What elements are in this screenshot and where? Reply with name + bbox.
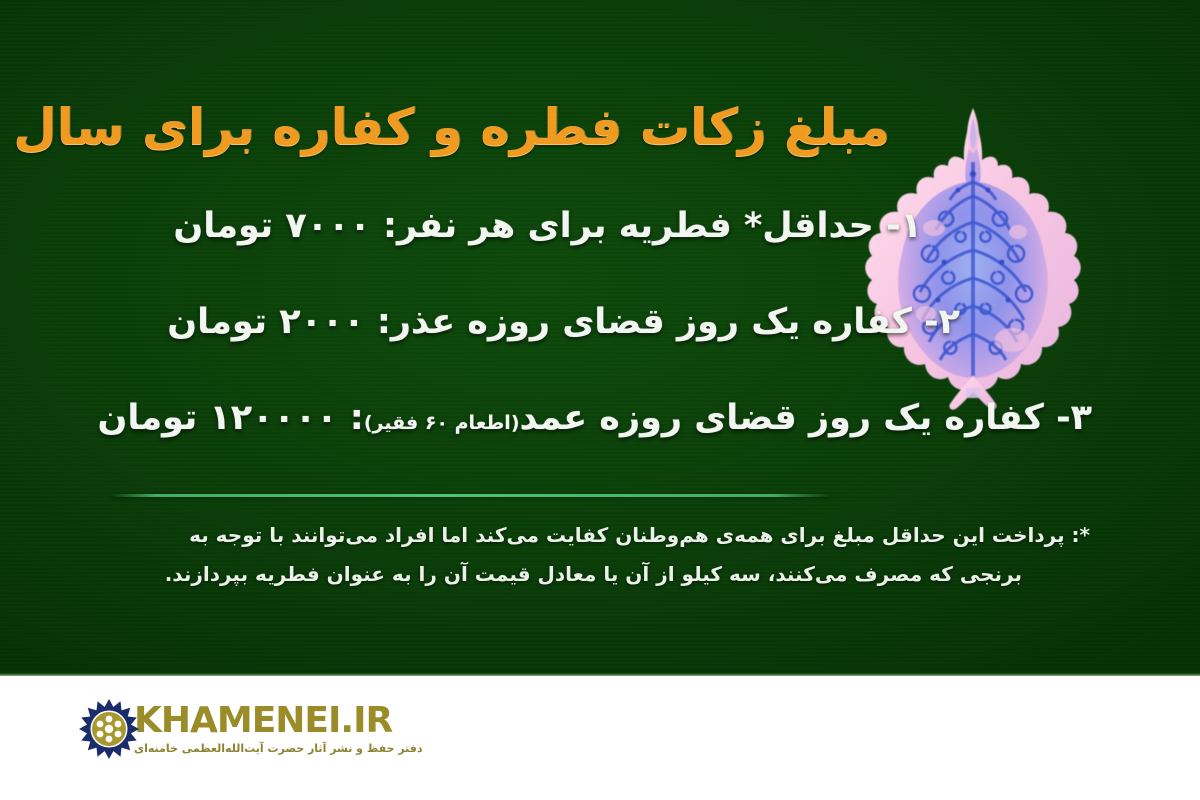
logo-text-block: KHAMENEI.IR دفتر حفظ و نشر آثار حضرت آیت… bbox=[134, 703, 422, 755]
amount-list: ۱- حداقل* فطریه برای هر نفر: ۷۰۰۰ تومان … bbox=[340, 205, 1100, 439]
section-divider bbox=[112, 494, 830, 497]
footnote-line-2: برنجی که مصرف می‌کنند، سه کیلو از آن یا … bbox=[345, 555, 1090, 594]
list-item: ۲- کفاره یک روز قضای روزه عذر: ۲۰۰۰ توما… bbox=[340, 301, 1100, 343]
poster-title-wrapper: مبلغ زکات فطره و کفاره برای سال ۱۳۹۶ bbox=[130, 96, 890, 159]
list-item-3-main: ۳- کفاره یک روز قضای روزه عمد bbox=[520, 398, 1092, 438]
footer-bar: KHAMENEI.IR دفتر حفظ و نشر آثار حضرت آیت… bbox=[0, 676, 1200, 800]
list-item-3-paren: (اطعام ۶۰ فقیر) bbox=[364, 412, 520, 434]
list-item-2-text: ۲- کفاره یک روز قضای روزه عذر: ۲۰۰۰ توما… bbox=[167, 302, 960, 342]
khamenei-starburst-icon bbox=[78, 698, 140, 760]
footnote: *: پرداخت این حداقل مبلغ برای همه‌ی هم‌و… bbox=[345, 516, 1090, 594]
footnote-line-1: *: پرداخت این حداقل مبلغ برای همه‌ی هم‌و… bbox=[345, 516, 1090, 555]
list-item: ۱- حداقل* فطریه برای هر نفر: ۷۰۰۰ تومان bbox=[340, 205, 1100, 247]
logo-wordmark: KHAMENEI.IR bbox=[134, 703, 422, 739]
list-item-3-tail: : ۱۲۰۰۰۰ تومان bbox=[97, 398, 363, 438]
logo-subtitle: دفتر حفظ و نشر آثار حضرت آیت‌الله‌العظمی… bbox=[134, 742, 422, 755]
list-item: ۳- کفاره یک روز قضای روزه عمد(اطعام ۶۰ ف… bbox=[340, 397, 1100, 439]
site-logo[interactable]: KHAMENEI.IR دفتر حفظ و نشر آثار حضرت آیت… bbox=[78, 698, 422, 760]
list-item-1-text: ۱- حداقل* فطریه برای هر نفر: ۷۰۰۰ تومان bbox=[173, 206, 922, 246]
page-title: مبلغ زکات فطره و کفاره برای سال ۱۳۹۶ bbox=[0, 96, 890, 159]
infographic-poster: مبلغ زکات فطره و کفاره برای سال ۱۳۹۶ ۱- … bbox=[0, 0, 1200, 800]
